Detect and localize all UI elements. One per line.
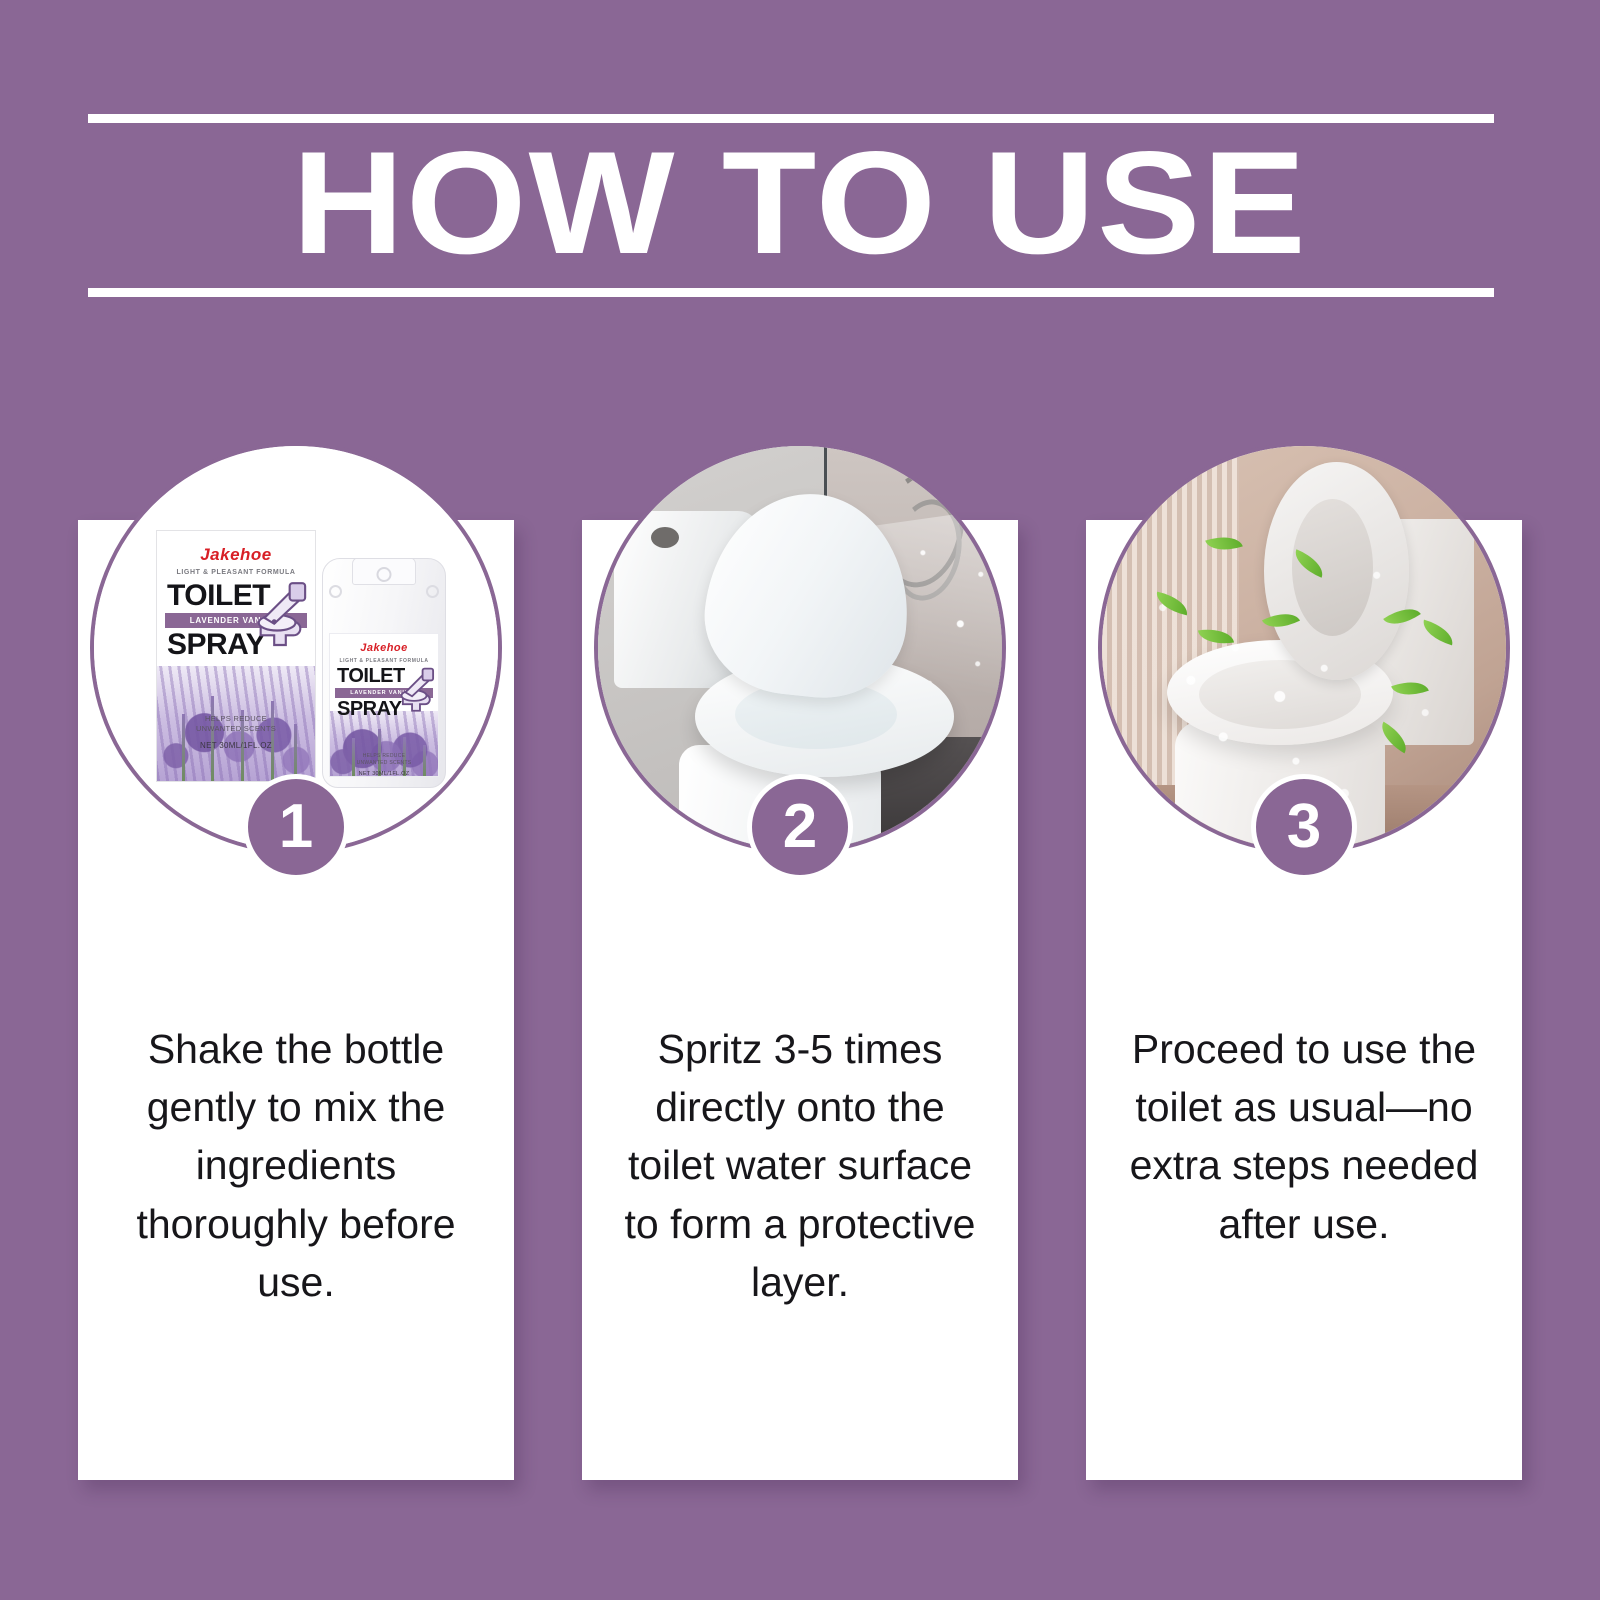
- step-badge-1: 1: [243, 774, 349, 880]
- step-caption-3: Proceed to use the toilet as usual—no ex…: [1112, 1020, 1496, 1253]
- carton-brand: Jakehoe: [157, 545, 315, 565]
- bottle-label: Jakehoe LIGHT & PLEASANT FORMULA TOILET …: [329, 633, 439, 777]
- step-2-media-wrap: 2: [594, 442, 1006, 854]
- steps-grid: Jakehoe LIGHT & PLEASANT FORMULA TOILET …: [0, 520, 1600, 1480]
- spray-bottle: Jakehoe LIGHT & PLEASANT FORMULA TOILET …: [322, 558, 446, 788]
- bottle-formula-line: LIGHT & PLEASANT FORMULA: [330, 658, 438, 664]
- carton-net-contents: NET 30ML/1FL.OZ: [157, 741, 315, 750]
- page-header: HOW TO USE: [0, 0, 1600, 330]
- carton-formula-line: LIGHT & PLEASANT FORMULA: [157, 569, 315, 576]
- step-card-3: 3 Proceed to use the toilet as usual—no …: [1086, 520, 1522, 1480]
- bottle-claim-1: HELPS REDUCE: [330, 753, 438, 759]
- toilet-icon: [251, 579, 309, 653]
- step-1-media-wrap: Jakehoe LIGHT & PLEASANT FORMULA TOILET …: [90, 442, 502, 854]
- step-badge-3: 3: [1251, 774, 1357, 880]
- bottle-net-contents: NET 30ML/1FL.OZ: [330, 771, 438, 777]
- step-3-media-wrap: 3: [1098, 442, 1510, 854]
- title-rule-bottom: [88, 288, 1494, 297]
- step-card-2: 2 Spritz 3-5 times directly onto the toi…: [582, 520, 1018, 1480]
- page-title: HOW TO USE: [0, 118, 1600, 288]
- bottle-claim-2: UNWANTED SCENTS: [330, 760, 438, 766]
- toilet-icon: [396, 666, 436, 716]
- step-caption-2: Spritz 3-5 times directly onto the toile…: [608, 1020, 992, 1311]
- step-card-1: Jakehoe LIGHT & PLEASANT FORMULA TOILET …: [78, 520, 514, 1480]
- step-badge-2: 2: [747, 774, 853, 880]
- bottle-cap: [352, 558, 416, 585]
- product-carton: Jakehoe LIGHT & PLEASANT FORMULA TOILET …: [156, 530, 316, 782]
- carton-claim-2: UNWANTED SCENTS: [157, 724, 315, 733]
- bottle-brand: Jakehoe: [330, 642, 438, 654]
- carton-claim-1: HELPS REDUCE: [157, 714, 315, 723]
- bottle-nub-right: [426, 585, 439, 598]
- step-caption-1: Shake the bottle gently to mix the ingre…: [104, 1020, 488, 1311]
- bottle-nub-left: [329, 585, 342, 598]
- flush-button-icon: [651, 527, 679, 548]
